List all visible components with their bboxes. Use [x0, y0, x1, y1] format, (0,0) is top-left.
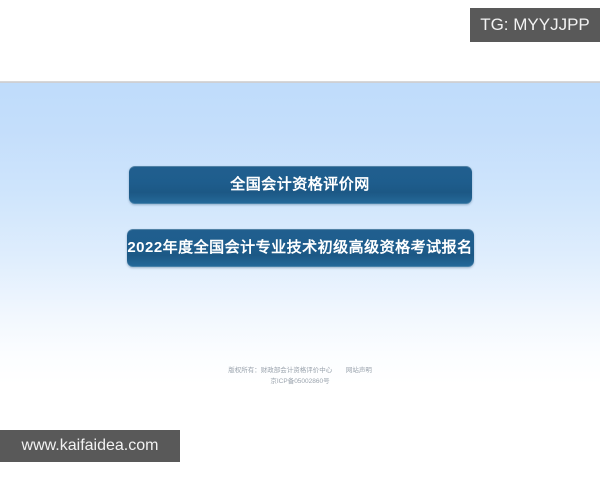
url-watermark-badge: www.kaifaidea.com: [0, 430, 180, 462]
footer-icp-link[interactable]: 京ICP备05002860号: [270, 378, 329, 385]
page-background: [0, 83, 600, 480]
footer-line-2: 京ICP备05002860号: [0, 376, 600, 387]
footer: 版权所有：财政部会计资格评价中心 网站声明 京ICP备05002860号: [0, 365, 600, 387]
footer-site-statement-link[interactable]: 网站声明: [346, 367, 372, 374]
exam-registration-button[interactable]: 2022年度全国会计专业技术初级高级资格考试报名: [127, 229, 474, 267]
footer-line-1: 版权所有：财政部会计资格评价中心 网站声明: [0, 365, 600, 376]
button-stack: 全国会计资格评价网 2022年度全国会计专业技术初级高级资格考试报名: [0, 166, 600, 267]
footer-copyright: 版权所有：财政部会计资格评价中心: [228, 367, 332, 374]
telegram-watermark-badge: TG: MYYJJPP: [470, 8, 600, 42]
portal-link-button[interactable]: 全国会计资格评价网: [129, 166, 472, 204]
